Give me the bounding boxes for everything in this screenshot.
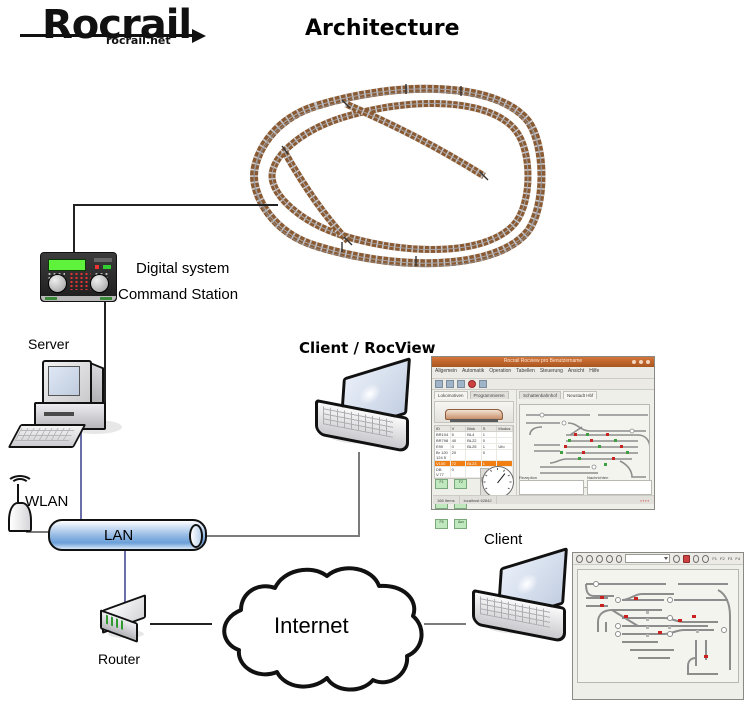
record-icon[interactable]: [683, 555, 690, 563]
field-input-nachrichten[interactable]: [587, 480, 652, 495]
cell-modus: Ufo: [497, 444, 513, 449]
wlan-wave-inner-icon: [10, 478, 30, 494]
plan-free-indicators: [560, 433, 629, 466]
rocview-statusbar: 166 Items localhost 62842 ▪▪▪▪: [433, 495, 654, 504]
field-nachrichten: Nachrichten: [587, 475, 652, 495]
rocview-left-tabs[interactable]: Lokomotiven Programmieren: [432, 390, 516, 399]
settings-icon[interactable]: [616, 555, 623, 563]
cell-id: E90: [435, 444, 451, 449]
model-railway-track-oval: [246, 76, 546, 276]
status-items: 166 Items: [433, 496, 460, 504]
cell-blok: BL4: [466, 432, 482, 437]
target-icon[interactable]: [606, 555, 613, 563]
router-device[interactable]: [98, 600, 150, 642]
plan-function-f4[interactable]: F4: [735, 556, 740, 561]
field-input-rezeption[interactable]: [519, 480, 584, 495]
lan-bus-end-cap: [189, 524, 203, 548]
digital-command-station[interactable]: [40, 252, 117, 302]
rocview-toolbar[interactable]: [432, 379, 654, 390]
dial-tick: [485, 475, 487, 477]
menu-item-2[interactable]: Operation: [489, 368, 511, 374]
rocview-application-window[interactable]: Rocrail Rocview pro Benutzername Allgeme…: [431, 356, 655, 510]
command-station-leds: [95, 265, 111, 269]
cell-v: 40: [451, 438, 467, 443]
locomotive-image: [445, 409, 503, 420]
dial-tick: [508, 488, 510, 490]
server-screen: [48, 366, 80, 396]
dial-tick: [485, 488, 487, 490]
command-station-terminal-left: [45, 297, 57, 300]
col-id: ID: [435, 426, 451, 431]
client-laptop-rocview[interactable]: [313, 368, 409, 446]
status-host: localhost 62842: [460, 496, 497, 504]
function-button-f2[interactable]: F2: [454, 479, 467, 489]
cell-id: BR104: [435, 432, 451, 437]
rocview-right-tabs[interactable]: Schattenbahnhof Neustadt Hbf: [517, 390, 654, 399]
col-blok: Blok: [466, 426, 482, 431]
tab-neustadt-hbf[interactable]: Neustadt Hbf: [563, 391, 597, 399]
plan-select-dropdown[interactable]: [625, 554, 669, 563]
label-internet: Internet: [274, 613, 349, 639]
cell-modus: [497, 450, 513, 460]
page-title: Architecture: [305, 16, 460, 41]
label-client-rocview: Client / RocView: [299, 339, 436, 357]
menu-item-3[interactable]: Tabellen: [516, 368, 535, 374]
cell-s: 1: [482, 444, 498, 449]
open-icon[interactable]: [446, 380, 454, 388]
track-plan-window[interactable]: F1 F2 F3 F4: [572, 552, 744, 700]
menu-item-5[interactable]: Ansicht: [568, 368, 584, 374]
cell-s: 0: [482, 438, 498, 443]
close-icon[interactable]: [646, 360, 650, 364]
dial-needle: [497, 473, 505, 483]
new-icon[interactable]: [435, 380, 443, 388]
command-station-knob-left[interactable]: [48, 274, 67, 293]
cell-id: Br 120 124 5: [435, 450, 451, 460]
link-lan-to-laptop-rocview-v: [358, 452, 360, 537]
logo-domain: rocrail.net: [106, 34, 171, 47]
right-icon[interactable]: [693, 555, 700, 563]
link-lan-to-laptop-rocview-h: [203, 535, 360, 537]
link-track-to-commandstation-v: [73, 204, 75, 254]
link-lan-to-router: [124, 546, 126, 602]
link-track-to-commandstation-h: [73, 204, 278, 206]
menu-item-0[interactable]: Allgemein: [435, 368, 457, 374]
internet-cloud: Internet: [203, 558, 435, 693]
dial-tick: [510, 482, 512, 483]
label-server: Server: [28, 336, 69, 352]
plan-function-f3[interactable]: F3: [728, 556, 733, 561]
track-joiners: [282, 84, 488, 266]
arrow-right-icon: [192, 29, 206, 43]
server-drive-slot: [44, 412, 74, 416]
cell-v: 5: [451, 432, 467, 437]
label-digital-system: Digital system: [136, 260, 229, 277]
menu-item-4[interactable]: Steuerung: [540, 368, 563, 374]
save-icon[interactable]: [457, 380, 465, 388]
command-station-base: [41, 296, 116, 301]
wlan-mast: [17, 484, 19, 504]
server-desktop-computer[interactable]: [10, 358, 115, 458]
rocrail-logo: Rocrail rocrail.net: [20, 4, 210, 56]
rocview-body: Lokomotiven Programmieren ID V Blok S Mo…: [432, 390, 654, 504]
plan-canvas[interactable]: [577, 569, 739, 683]
status-indicators: ▪▪▪▪: [636, 496, 654, 504]
up-icon[interactable]: [586, 555, 593, 563]
command-station-display: [48, 259, 86, 271]
col-s: S: [482, 426, 498, 431]
server-keyboard-keys: [15, 428, 76, 441]
function-button-aux[interactable]: Aux: [454, 519, 467, 529]
cell-modus: [497, 432, 513, 437]
cell-id: BR798: [435, 438, 451, 443]
tab-schattenbahnhof[interactable]: Schattenbahnhof: [519, 391, 561, 399]
cell-v: 20: [451, 450, 467, 460]
rocview-title: Rocrail Rocview pro Benutzername: [504, 358, 582, 364]
dial-tick: [484, 482, 486, 483]
tab-programmieren[interactable]: Programmieren: [470, 391, 509, 399]
plan-function-f2[interactable]: F2: [720, 556, 725, 561]
plan-function-f1[interactable]: F1: [712, 556, 717, 561]
menu-item-6[interactable]: Hilfe: [589, 368, 599, 374]
minimize-icon[interactable]: [632, 360, 636, 364]
cell-s: 0: [482, 450, 498, 460]
cell-v: 0: [451, 444, 467, 449]
dial-tick: [508, 475, 510, 477]
maximize-icon[interactable]: [639, 360, 643, 364]
clock-icon[interactable]: [596, 555, 603, 563]
stop-icon[interactable]: [468, 380, 476, 388]
plan-toolbar[interactable]: F1 F2 F3 F4: [573, 553, 743, 565]
label-client: Client: [484, 531, 522, 548]
field-rezeption: Rezeption: [519, 475, 584, 495]
left-icon[interactable]: [673, 555, 680, 563]
cell-blok: [466, 450, 482, 460]
rocview-left-panel: Lokomotiven Programmieren ID V Blok S Mo…: [432, 390, 517, 504]
client-laptop[interactable]: [470, 558, 566, 636]
rocview-text-fields: Rezeption Nachrichten: [517, 475, 654, 495]
plan-canvas-svg: [578, 570, 738, 680]
function-button-f1[interactable]: F1: [435, 479, 448, 489]
rocview-menubar[interactable]: AllgemeinAutomatikOperationTabellenSteue…: [432, 367, 654, 379]
cell-modus: [497, 438, 513, 443]
cell-blok: BL25: [466, 444, 482, 449]
label-lan: LAN: [104, 527, 133, 544]
locomotive-preview: [434, 401, 514, 423]
dial-tick: [497, 468, 498, 470]
cell-s: 1: [482, 432, 498, 437]
function-button-f5[interactable]: F5: [435, 519, 448, 529]
col-v: V: [451, 426, 467, 431]
label-router: Router: [98, 651, 140, 667]
label-wlan: WLAN: [25, 493, 68, 510]
col-modus: Modus: [497, 426, 513, 431]
loco-icon[interactable]: [479, 380, 487, 388]
rocview-titlebar[interactable]: Rocrail Rocview pro Benutzername: [432, 357, 654, 367]
label-command-station: Command Station: [118, 286, 238, 303]
dial-tick: [503, 470, 505, 472]
cell-blok: BL22: [466, 438, 482, 443]
command-station-keypad-center[interactable]: [69, 272, 91, 290]
command-station-terminal-right: [100, 297, 112, 300]
menu-item-1[interactable]: Automatik: [462, 368, 484, 374]
pause-icon[interactable]: [702, 555, 709, 563]
command-station-knob-right[interactable]: [90, 274, 109, 293]
rocview-right-panel: Schattenbahnhof Neustadt Hbf: [517, 390, 654, 504]
track-svg: [246, 76, 546, 276]
dial-tick: [490, 470, 492, 472]
command-station-brand: [94, 258, 112, 262]
tab-lokomotiven[interactable]: Lokomotiven: [434, 391, 468, 399]
power-icon[interactable]: [576, 555, 583, 563]
speedometer-dial: [482, 466, 514, 498]
table-row[interactable]: Br 120 124 5 20 0: [435, 450, 513, 461]
